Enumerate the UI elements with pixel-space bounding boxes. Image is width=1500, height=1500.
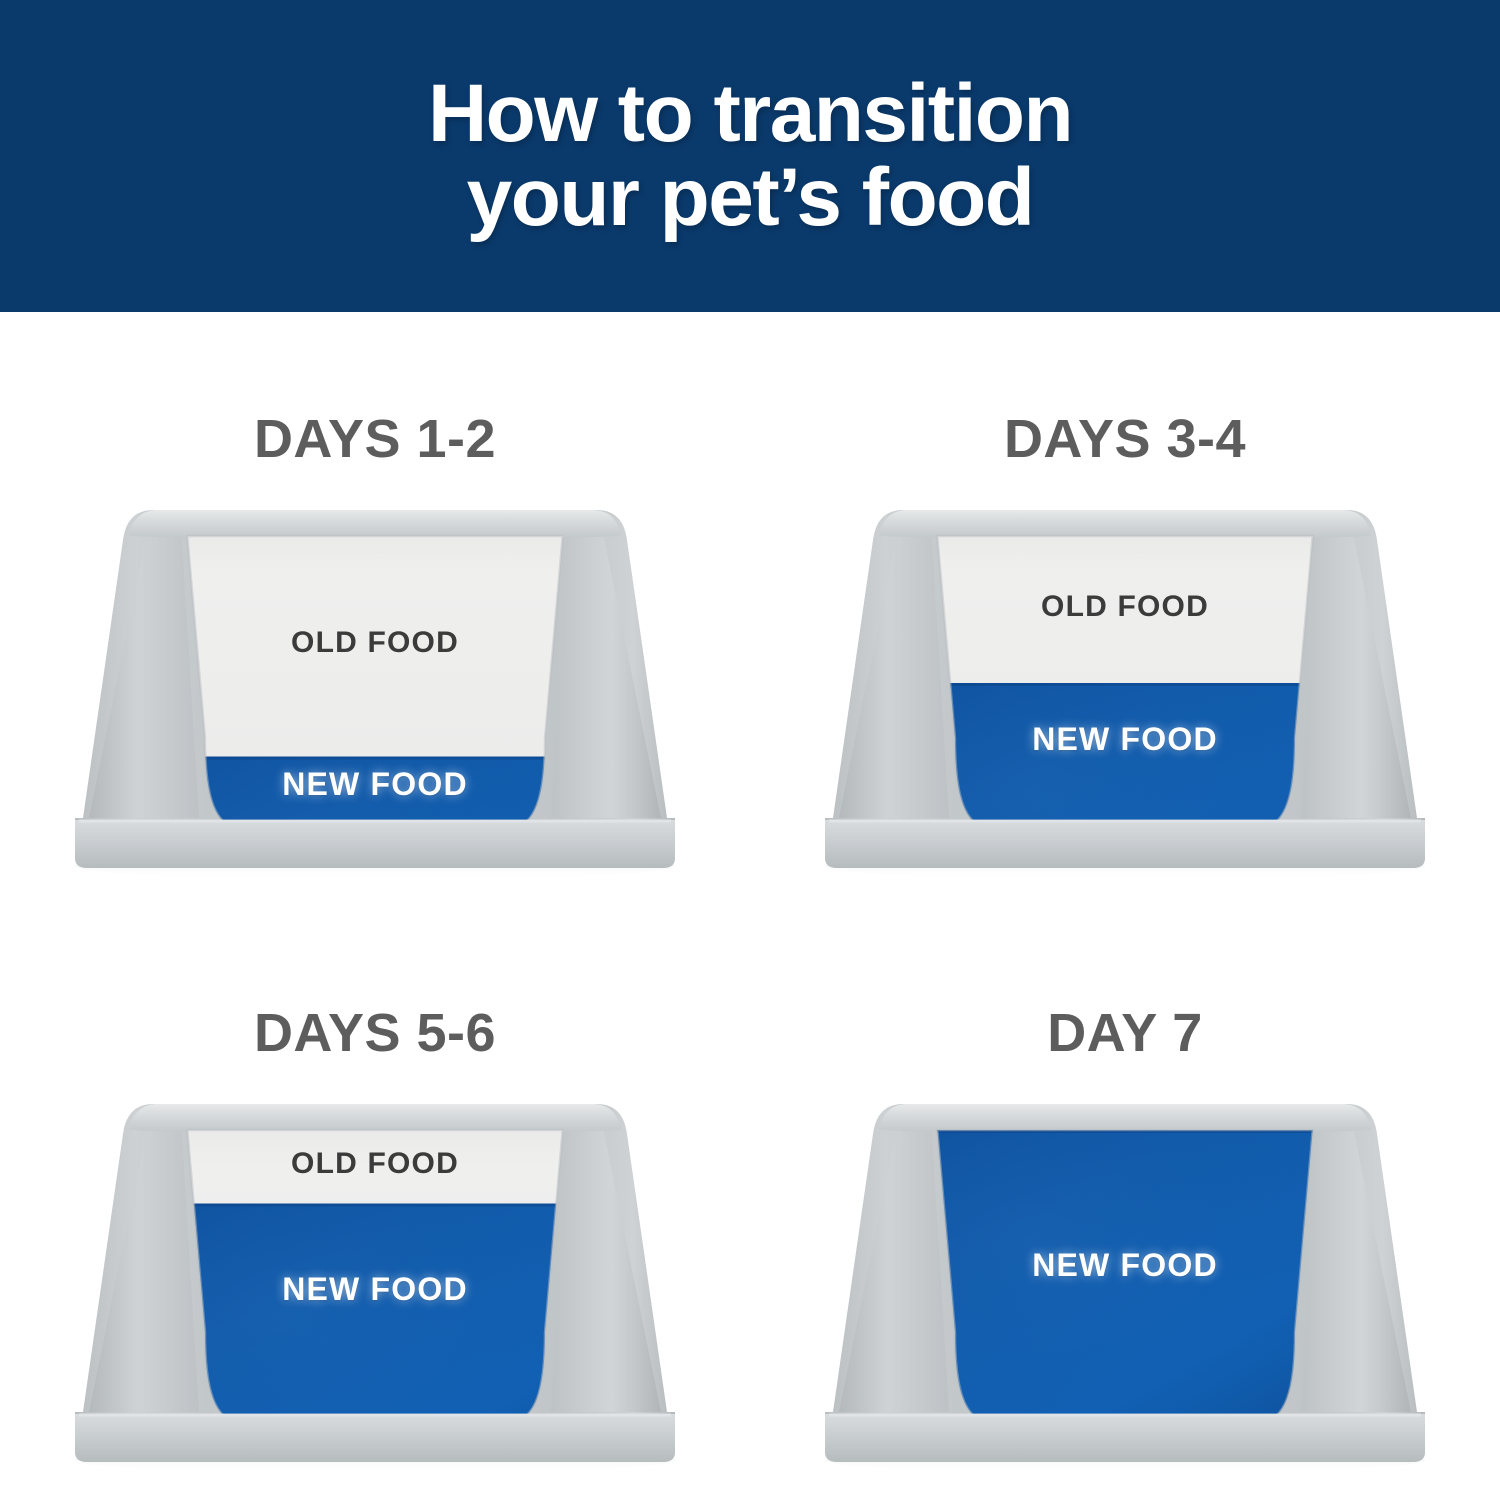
stage-title: DAY 7 <box>750 1002 1500 1064</box>
transition-stage-grid: DAYS 1-2 <box>0 312 1500 1500</box>
stage-card-days-1-2: DAYS 1-2 <box>0 312 750 906</box>
bowl-foot <box>75 820 675 868</box>
bowl-foot <box>825 1414 1425 1462</box>
bowl-rim <box>129 1104 621 1132</box>
header-banner: How to transition your pet’s food <box>0 0 1500 312</box>
page-title-line-2: your pet’s food <box>428 156 1072 240</box>
bowl-illustration <box>65 1094 685 1484</box>
bowl-illustration <box>815 1094 1435 1484</box>
bowl-rim <box>129 510 621 538</box>
infographic-page: How to transition your pet’s food DAYS 1… <box>0 0 1500 1500</box>
stage-title: DAYS 3-4 <box>750 408 1500 470</box>
bowl-rim <box>879 510 1371 538</box>
bowl-foot <box>75 1414 675 1462</box>
page-title-line-1: How to transition <box>428 68 1072 159</box>
stage-card-day-7: DAY 7 <box>750 906 1500 1500</box>
stage-title: DAYS 1-2 <box>0 408 750 470</box>
food-bowl-days-3-4: OLD FOODNEW FOOD <box>815 500 1435 890</box>
bowl-rim <box>879 1104 1371 1132</box>
food-bowl-day-7: NEW FOOD <box>815 1094 1435 1484</box>
bowl-foot <box>825 820 1425 868</box>
bowl-illustration <box>815 500 1435 890</box>
stage-card-days-3-4: DAYS 3-4 <box>750 312 1500 906</box>
food-bowl-days-5-6: OLD FOODNEW FOOD <box>65 1094 685 1484</box>
food-bowl-days-1-2: OLD FOODNEW FOOD <box>65 500 685 890</box>
stage-card-days-5-6: DAYS 5-6 <box>0 906 750 1500</box>
bowl-illustration <box>65 500 685 890</box>
stage-title: DAYS 5-6 <box>0 1002 750 1064</box>
page-title: How to transition your pet’s food <box>428 72 1072 239</box>
